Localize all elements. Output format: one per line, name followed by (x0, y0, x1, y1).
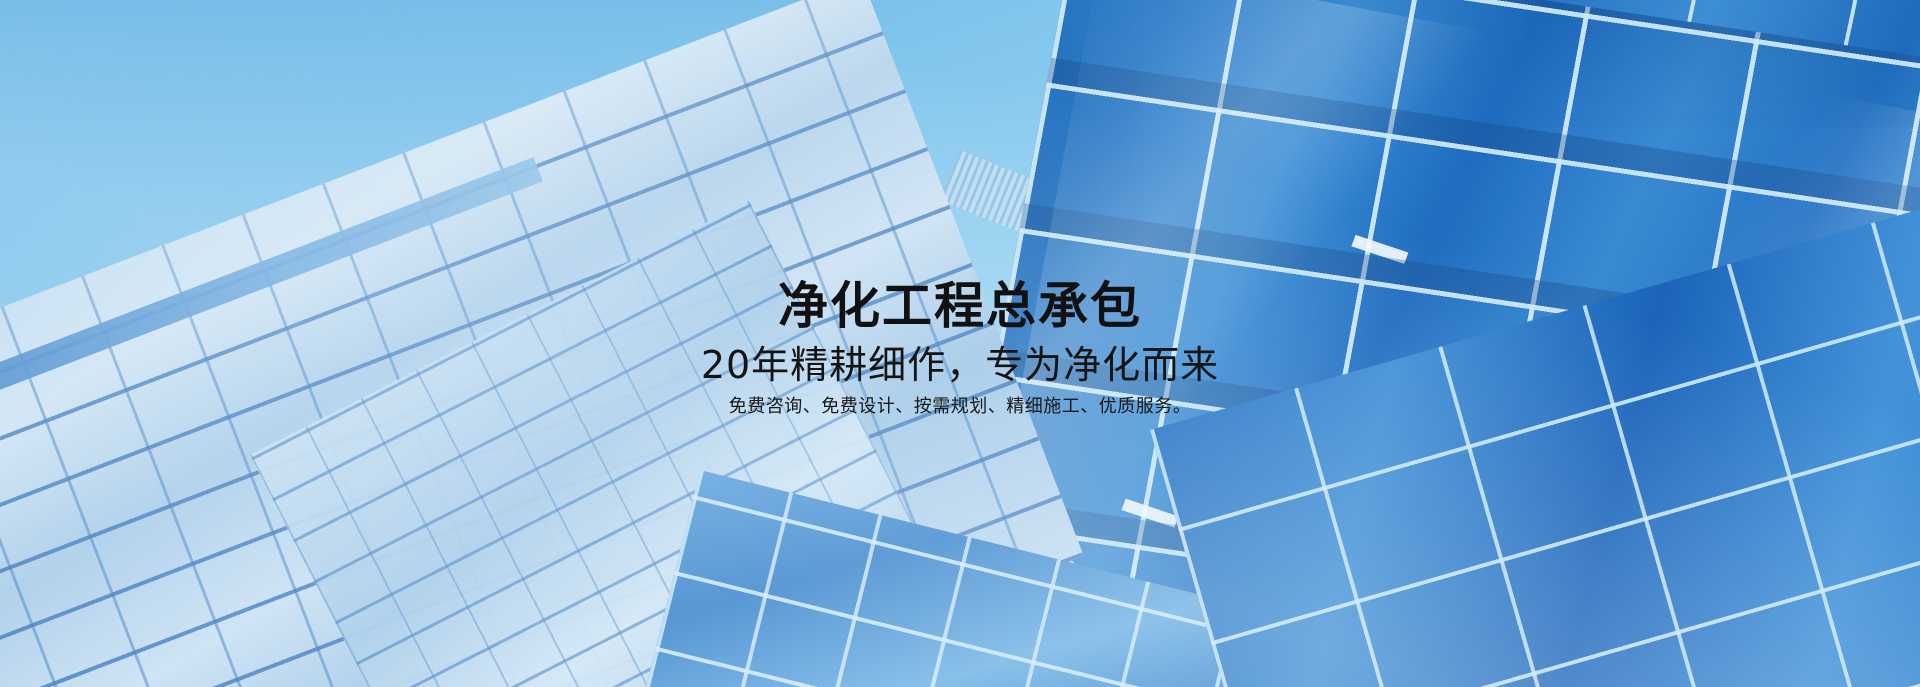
hero-tagline: 免费咨询、免费设计、按需规划、精细施工、优质服务。 (0, 396, 1920, 418)
window-label-strip (1351, 235, 1408, 264)
hero-banner: 净化工程总承包 20年精耕细作，专为净化而来 免费咨询、免费设计、按需规划、精细… (0, 0, 1920, 687)
hero-copy-block: 净化工程总承包 20年精耕细作，专为净化而来 免费咨询、免费设计、按需规划、精细… (0, 280, 1920, 418)
hero-subheadline: 20年精耕细作，专为净化而来 (0, 345, 1920, 387)
hero-headline: 净化工程总承包 (0, 280, 1920, 333)
